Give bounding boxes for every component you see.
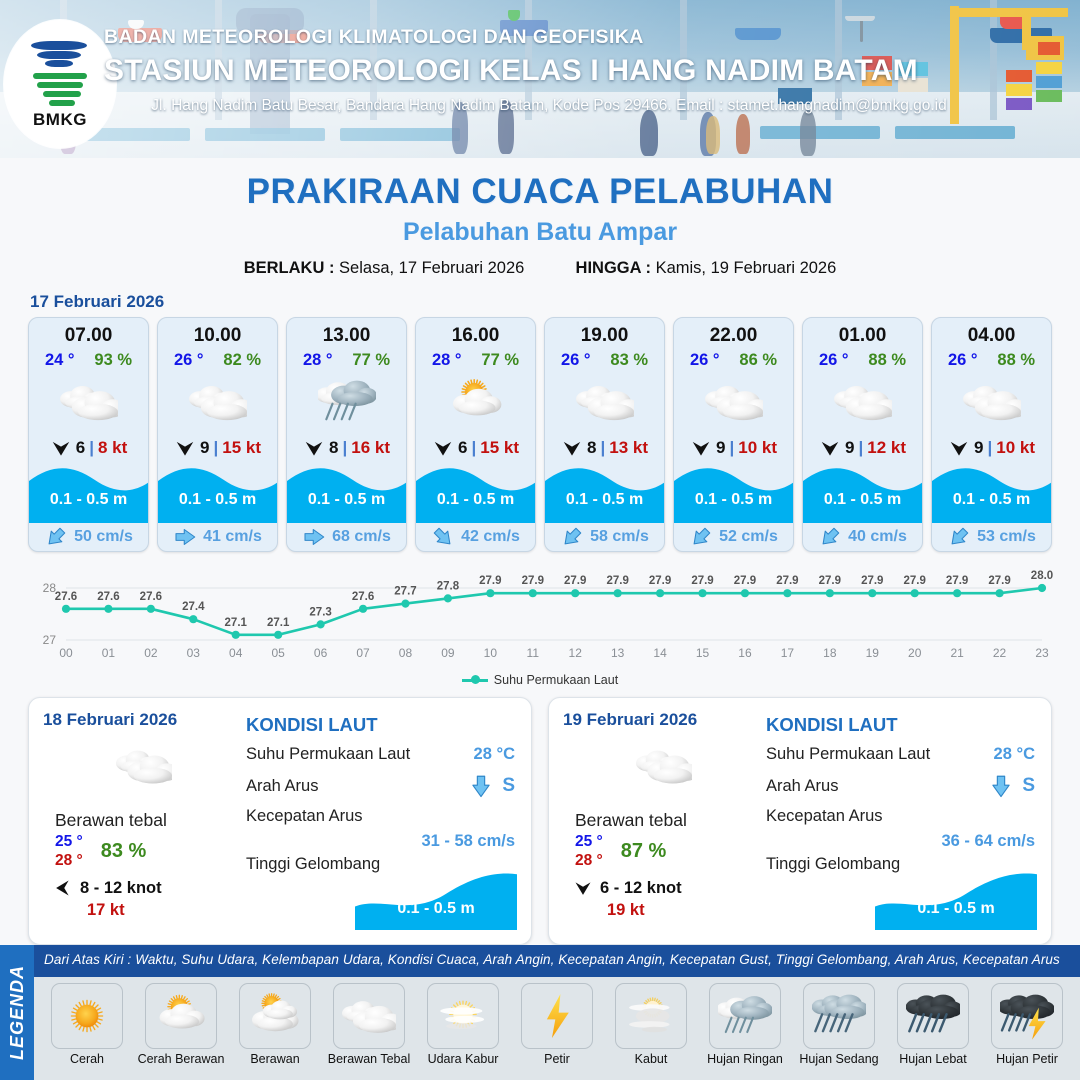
berawan-tebal-icon bbox=[563, 736, 764, 796]
card-gust: 15 kt bbox=[222, 438, 261, 458]
logo-arcs-icon bbox=[31, 39, 89, 69]
agency-name: BADAN METEOROLOGI KLIMATOLOGI DAN GEOFIS… bbox=[104, 26, 1064, 49]
legend-items: Cerah bbox=[34, 977, 1080, 1080]
current-direction-arrow-icon bbox=[173, 525, 197, 549]
panel-wave-value: 0.1 - 0.5 m bbox=[355, 900, 517, 918]
panel-gust: 17 kt bbox=[43, 901, 244, 920]
page-subtitle: Pelabuhan Batu Ampar bbox=[0, 218, 1080, 247]
svg-text:00: 00 bbox=[59, 646, 73, 660]
card-temperature: 28 ° bbox=[432, 351, 462, 370]
svg-text:17: 17 bbox=[781, 646, 795, 660]
svg-text:01: 01 bbox=[102, 646, 116, 660]
hujan-petir-icon bbox=[991, 983, 1063, 1049]
panel-humidity: 83 % bbox=[101, 840, 147, 863]
card-wave-block: 0.1 - 0.5 m bbox=[932, 463, 1051, 523]
svg-text:27.9: 27.9 bbox=[606, 575, 628, 587]
legend-item-label: Hujan Petir bbox=[996, 1053, 1058, 1066]
sst-value: 28 °C bbox=[474, 745, 515, 764]
current-direction-arrow-icon bbox=[302, 525, 326, 549]
berawan-icon bbox=[239, 983, 311, 1049]
svg-text:27.9: 27.9 bbox=[861, 575, 883, 587]
svg-text:18: 18 bbox=[823, 646, 837, 660]
legend-item: Berawan bbox=[230, 983, 320, 1066]
card-gust: 10 kt bbox=[738, 438, 777, 458]
card-temperature: 24 ° bbox=[45, 351, 75, 370]
panel-temp-min: 25 ° bbox=[575, 833, 603, 851]
legend-item-label: Kabut bbox=[635, 1053, 668, 1066]
card-wind-speed: 9 bbox=[200, 438, 209, 458]
separator: | bbox=[987, 438, 992, 458]
card-current-speed: 41 cm/s bbox=[203, 528, 262, 546]
card-current-speed: 50 cm/s bbox=[74, 528, 133, 546]
station-name: STASIUN METEOROLOGI KELAS I HANG NADIM B… bbox=[104, 54, 1064, 88]
legend-line-marker-icon bbox=[462, 679, 488, 682]
svg-text:04: 04 bbox=[229, 646, 243, 660]
kabut-icon bbox=[615, 983, 687, 1049]
svg-text:27.6: 27.6 bbox=[97, 591, 119, 603]
svg-text:06: 06 bbox=[314, 646, 328, 660]
svg-text:27.9: 27.9 bbox=[649, 575, 671, 587]
legend-label: Suhu Permukaan Laut bbox=[494, 673, 618, 687]
card-gust: 15 kt bbox=[480, 438, 519, 458]
current-speed-label: Kecepatan Arus bbox=[246, 807, 363, 826]
validity-row: BERLAKU : Selasa, 17 Februari 2026 HINGG… bbox=[0, 259, 1080, 278]
svg-text:08: 08 bbox=[399, 646, 413, 660]
hourly-forecast-card: 04.00 26 ° 88 % bbox=[931, 317, 1052, 552]
card-current-speed: 42 cm/s bbox=[461, 528, 520, 546]
svg-text:27.9: 27.9 bbox=[564, 575, 586, 587]
svg-text:14: 14 bbox=[653, 646, 667, 660]
card-temperature: 26 ° bbox=[819, 351, 849, 370]
current-direction-arrow-icon bbox=[44, 525, 68, 549]
berawan-tebal-icon bbox=[158, 372, 277, 432]
separator: | bbox=[89, 438, 94, 458]
wind-direction-arrow-icon bbox=[174, 437, 196, 459]
card-current-speed: 52 cm/s bbox=[719, 528, 778, 546]
sea-conditions-title: KONDISI LAUT bbox=[246, 714, 515, 736]
svg-text:12: 12 bbox=[569, 646, 583, 660]
legend-item: Hujan Lebat bbox=[888, 983, 978, 1066]
berawan-tebal-icon bbox=[43, 736, 244, 796]
svg-text:27.4: 27.4 bbox=[182, 601, 205, 613]
card-current-speed: 58 cm/s bbox=[590, 528, 649, 546]
card-humidity: 93 % bbox=[94, 351, 132, 370]
panel-date: 19 Februari 2026 bbox=[563, 710, 764, 730]
legend-item-label: Cerah bbox=[70, 1053, 104, 1066]
card-temperature: 26 ° bbox=[690, 351, 720, 370]
legenda-side-title: LEGENDA bbox=[0, 945, 34, 1080]
title-block: PRAKIRAAN CUACA PELABUHAN Pelabuhan Batu… bbox=[0, 172, 1080, 278]
svg-text:27.9: 27.9 bbox=[734, 575, 756, 587]
berawan-tebal-icon bbox=[29, 372, 148, 432]
legend-item-label: Hujan Lebat bbox=[899, 1053, 966, 1066]
page-title: PRAKIRAAN CUACA PELABUHAN bbox=[0, 172, 1080, 212]
wind-direction-arrow-icon bbox=[948, 437, 970, 459]
current-speed-label: Kecepatan Arus bbox=[766, 807, 883, 826]
card-humidity: 77 % bbox=[481, 351, 519, 370]
card-wave-height: 0.1 - 0.5 m bbox=[287, 491, 406, 509]
card-wind-speed: 9 bbox=[974, 438, 983, 458]
valid-from-value: Selasa, 17 Februari 2026 bbox=[339, 259, 524, 277]
berawan-tebal-icon bbox=[674, 372, 793, 432]
svg-text:07: 07 bbox=[356, 646, 370, 660]
current-direction-letter: S bbox=[1022, 775, 1035, 797]
card-wave-block: 0.1 - 0.5 m bbox=[545, 463, 664, 523]
card-humidity: 86 % bbox=[739, 351, 777, 370]
card-wave-block: 0.1 - 0.5 m bbox=[158, 463, 277, 523]
svg-text:27.1: 27.1 bbox=[225, 617, 248, 629]
card-wave-block: 0.1 - 0.5 m bbox=[674, 463, 793, 523]
svg-text:16: 16 bbox=[738, 646, 752, 660]
panel-condition: Berawan tebal bbox=[43, 810, 244, 831]
card-humidity: 88 % bbox=[868, 351, 906, 370]
svg-text:02: 02 bbox=[144, 646, 158, 660]
card-wave-height: 0.1 - 0.5 m bbox=[674, 491, 793, 509]
card-wind-speed: 8 bbox=[329, 438, 338, 458]
berawan-tebal-icon bbox=[545, 372, 664, 432]
svg-text:10: 10 bbox=[484, 646, 498, 660]
svg-text:27.6: 27.6 bbox=[140, 591, 162, 603]
svg-text:27.7: 27.7 bbox=[394, 586, 416, 598]
svg-text:27.9: 27.9 bbox=[904, 575, 926, 587]
current-direction-letter: S bbox=[502, 775, 515, 797]
current-direction-arrow-icon bbox=[818, 525, 842, 549]
legend-item-label: Udara Kabur bbox=[428, 1053, 499, 1066]
separator: | bbox=[729, 438, 734, 458]
separator: | bbox=[600, 438, 605, 458]
svg-text:11: 11 bbox=[527, 646, 540, 660]
svg-text:27.3: 27.3 bbox=[309, 606, 331, 618]
hujan-lebat-icon bbox=[897, 983, 969, 1049]
petir-icon bbox=[521, 983, 593, 1049]
current-direction-label: Arah Arus bbox=[766, 777, 838, 796]
hourly-forecast-card: 16.00 28 ° 77 % bbox=[415, 317, 536, 552]
separator: | bbox=[471, 438, 476, 458]
panel-wave-value: 0.1 - 0.5 m bbox=[875, 900, 1037, 918]
legend-item: Cerah bbox=[42, 983, 132, 1066]
card-time: 22.00 bbox=[674, 325, 793, 347]
current-direction-arrow-icon bbox=[468, 773, 494, 799]
legend-item: Berawan Tebal bbox=[324, 983, 414, 1066]
chart-legend: Suhu Permukaan Laut bbox=[0, 673, 1080, 687]
card-time: 19.00 bbox=[545, 325, 664, 347]
legend-item: Hujan Sedang bbox=[794, 983, 884, 1066]
valid-until-value: Kamis, 19 Februari 2026 bbox=[656, 259, 837, 277]
current-direction-arrow-icon bbox=[947, 525, 971, 549]
legend-item-label: Berawan Tebal bbox=[328, 1053, 410, 1066]
svg-text:27.8: 27.8 bbox=[437, 580, 460, 592]
card-wind-speed: 8 bbox=[587, 438, 596, 458]
legend-item-label: Petir bbox=[544, 1053, 570, 1066]
hourly-forecast-card: 10.00 26 ° 82 % bbox=[157, 317, 278, 552]
card-time: 01.00 bbox=[803, 325, 922, 347]
card-humidity: 82 % bbox=[223, 351, 261, 370]
daily-panels: 18 Februari 2026 bbox=[0, 697, 1080, 945]
sst-value: 28 °C bbox=[994, 745, 1035, 764]
svg-text:27.9: 27.9 bbox=[819, 575, 841, 587]
legend-item-label: Hujan Sedang bbox=[799, 1053, 878, 1066]
legend-item: Cerah Berawan bbox=[136, 983, 226, 1066]
current-speed-value: 31 - 58 cm/s bbox=[246, 832, 515, 851]
station-address: Jl. Hang Nadim Batu Besar, Bandara Hang … bbox=[104, 97, 994, 115]
cerah-berawan-icon bbox=[145, 983, 217, 1049]
wind-direction-arrow-icon bbox=[432, 437, 454, 459]
panel-wind-range: 6 - 12 knot bbox=[600, 879, 682, 898]
panel-wind-range: 8 - 12 knot bbox=[80, 879, 162, 898]
card-wave-block: 0.1 - 0.5 m bbox=[287, 463, 406, 523]
panel-date: 18 Februari 2026 bbox=[43, 710, 244, 730]
cerah-icon bbox=[51, 983, 123, 1049]
panel-condition: Berawan tebal bbox=[563, 810, 764, 831]
svg-text:20: 20 bbox=[908, 646, 922, 660]
wind-direction-arrow-icon bbox=[690, 437, 712, 459]
separator: | bbox=[213, 438, 218, 458]
panel-gust: 19 kt bbox=[563, 901, 764, 920]
svg-text:03: 03 bbox=[187, 646, 201, 660]
card-wave-block: 0.1 - 0.5 m bbox=[803, 463, 922, 523]
panel-temp-max: 28 ° bbox=[55, 852, 83, 870]
cerah-berawan-icon bbox=[416, 372, 535, 432]
legend-caption: Dari Atas Kiri : Waktu, Suhu Udara, Kele… bbox=[44, 952, 1060, 967]
legend-bar: LEGENDA Dari Atas Kiri : Waktu, Suhu Uda… bbox=[0, 945, 1080, 1080]
hourly-forecast-card: 01.00 26 ° 88 % bbox=[802, 317, 923, 552]
card-wind-speed: 9 bbox=[716, 438, 725, 458]
svg-text:27.9: 27.9 bbox=[691, 575, 713, 587]
berawan-tebal-icon bbox=[803, 372, 922, 432]
card-current-speed: 40 cm/s bbox=[848, 528, 907, 546]
logo-green-icon bbox=[31, 72, 89, 106]
legend-item: Kabut bbox=[606, 983, 696, 1066]
wind-direction-arrow-icon bbox=[561, 437, 583, 459]
valid-until-label: HINGGA : bbox=[576, 259, 651, 277]
svg-text:28.0: 28.0 bbox=[1031, 570, 1053, 582]
current-direction-arrow-icon bbox=[689, 525, 713, 549]
sst-chart: 272827.60027.60127.60227.40327.10427.105… bbox=[0, 558, 1080, 670]
legend-item: Hujan Petir bbox=[982, 983, 1072, 1066]
wind-direction-arrow-icon bbox=[819, 437, 841, 459]
wind-direction-arrow-icon bbox=[50, 437, 72, 459]
card-gust: 16 kt bbox=[351, 438, 390, 458]
legend-item: Hujan Ringan bbox=[700, 983, 790, 1066]
svg-text:21: 21 bbox=[950, 646, 964, 660]
card-gust: 8 kt bbox=[98, 438, 127, 458]
card-wave-height: 0.1 - 0.5 m bbox=[803, 491, 922, 509]
valid-from-label: BERLAKU : bbox=[244, 259, 335, 277]
wind-direction-arrow-icon bbox=[53, 878, 73, 898]
current-direction-arrow-icon bbox=[560, 525, 584, 549]
berawan-tebal-icon bbox=[333, 983, 405, 1049]
panel-wave-block: 0.1 - 0.5 m bbox=[875, 868, 1037, 930]
panel-temp-min: 25 ° bbox=[55, 833, 83, 851]
card-gust: 12 kt bbox=[867, 438, 906, 458]
svg-text:23: 23 bbox=[1035, 646, 1049, 660]
card-temperature: 26 ° bbox=[174, 351, 204, 370]
card-time: 04.00 bbox=[932, 325, 1051, 347]
card-wind-speed: 9 bbox=[845, 438, 854, 458]
card-gust: 10 kt bbox=[996, 438, 1035, 458]
bmkg-logo: BMKG bbox=[4, 20, 116, 148]
card-wave-height: 0.1 - 0.5 m bbox=[29, 491, 148, 509]
svg-text:27.9: 27.9 bbox=[479, 575, 501, 587]
current-speed-value: 36 - 64 cm/s bbox=[766, 832, 1035, 851]
card-time: 07.00 bbox=[29, 325, 148, 347]
card-temperature: 28 ° bbox=[303, 351, 333, 370]
panel-humidity: 87 % bbox=[621, 840, 667, 863]
wind-direction-arrow-icon bbox=[303, 437, 325, 459]
card-time: 10.00 bbox=[158, 325, 277, 347]
card-wave-height: 0.1 - 0.5 m bbox=[416, 491, 535, 509]
hujan-sedang-icon bbox=[803, 983, 875, 1049]
card-current-speed: 53 cm/s bbox=[977, 528, 1036, 546]
sst-label: Suhu Permukaan Laut bbox=[246, 745, 410, 764]
hourly-forecast-card: 19.00 26 ° 83 % bbox=[544, 317, 665, 552]
svg-text:27: 27 bbox=[43, 633, 57, 647]
berawan-tebal-icon bbox=[932, 372, 1051, 432]
udara-kabur-icon bbox=[427, 983, 499, 1049]
svg-text:13: 13 bbox=[611, 646, 625, 660]
hourly-forecast-strip: 07.00 24 ° 93 % bbox=[0, 317, 1080, 552]
page-header: BMKG BADAN METEOROLOGI KLIMATOLOGI DAN G… bbox=[0, 0, 1080, 158]
svg-text:27.1: 27.1 bbox=[267, 617, 290, 629]
card-wind-speed: 6 bbox=[458, 438, 467, 458]
day1-date-label: 17 Februari 2026 bbox=[30, 292, 1080, 312]
card-humidity: 77 % bbox=[352, 351, 390, 370]
card-time: 13.00 bbox=[287, 325, 406, 347]
card-wave-block: 0.1 - 0.5 m bbox=[416, 463, 535, 523]
separator: | bbox=[858, 438, 863, 458]
current-direction-label: Arah Arus bbox=[246, 777, 318, 796]
panel-wave-block: 0.1 - 0.5 m bbox=[355, 868, 517, 930]
svg-text:22: 22 bbox=[993, 646, 1007, 660]
wind-direction-arrow-icon bbox=[573, 878, 593, 898]
legend-item-label: Berawan bbox=[250, 1053, 299, 1066]
hujan-ringan-icon bbox=[709, 983, 781, 1049]
current-direction-arrow-icon bbox=[431, 525, 455, 549]
hourly-forecast-card: 13.00 28 ° 77 % bbox=[286, 317, 407, 552]
sst-label: Suhu Permukaan Laut bbox=[766, 745, 930, 764]
svg-text:27.9: 27.9 bbox=[988, 575, 1010, 587]
legend-item: Petir bbox=[512, 983, 602, 1066]
legend-item-label: Hujan Ringan bbox=[707, 1053, 783, 1066]
card-wind-speed: 6 bbox=[76, 438, 85, 458]
card-wave-height: 0.1 - 0.5 m bbox=[932, 491, 1051, 509]
hujan-ringan-icon bbox=[287, 372, 406, 432]
hourly-forecast-card: 22.00 26 ° 86 % bbox=[673, 317, 794, 552]
svg-text:27.6: 27.6 bbox=[352, 591, 374, 603]
svg-text:27.9: 27.9 bbox=[946, 575, 968, 587]
logo-label: BMKG bbox=[33, 110, 87, 130]
legend-item-label: Cerah Berawan bbox=[138, 1053, 225, 1066]
svg-text:15: 15 bbox=[696, 646, 710, 660]
current-direction-arrow-icon bbox=[988, 773, 1014, 799]
card-temperature: 26 ° bbox=[561, 351, 591, 370]
sea-conditions-title: KONDISI LAUT bbox=[766, 714, 1035, 736]
hourly-forecast-card: 07.00 24 ° 93 % bbox=[28, 317, 149, 552]
card-gust: 13 kt bbox=[609, 438, 648, 458]
card-temperature: 26 ° bbox=[948, 351, 978, 370]
svg-text:05: 05 bbox=[271, 646, 285, 660]
card-time: 16.00 bbox=[416, 325, 535, 347]
panel-temp-max: 28 ° bbox=[575, 852, 603, 870]
svg-text:27.6: 27.6 bbox=[55, 591, 77, 603]
separator: | bbox=[342, 438, 347, 458]
svg-text:27.9: 27.9 bbox=[522, 575, 544, 587]
card-wave-height: 0.1 - 0.5 m bbox=[158, 491, 277, 509]
card-humidity: 83 % bbox=[610, 351, 648, 370]
card-wave-height: 0.1 - 0.5 m bbox=[545, 491, 664, 509]
card-wave-block: 0.1 - 0.5 m bbox=[29, 463, 148, 523]
card-humidity: 88 % bbox=[997, 351, 1035, 370]
svg-text:27.9: 27.9 bbox=[776, 575, 798, 587]
daily-forecast-panel: 19 Februari 2026 bbox=[548, 697, 1052, 945]
legend-item: Udara Kabur bbox=[418, 983, 508, 1066]
svg-text:19: 19 bbox=[866, 646, 880, 660]
card-current-speed: 68 cm/s bbox=[332, 528, 391, 546]
daily-forecast-panel: 18 Februari 2026 bbox=[28, 697, 532, 945]
svg-text:09: 09 bbox=[441, 646, 455, 660]
